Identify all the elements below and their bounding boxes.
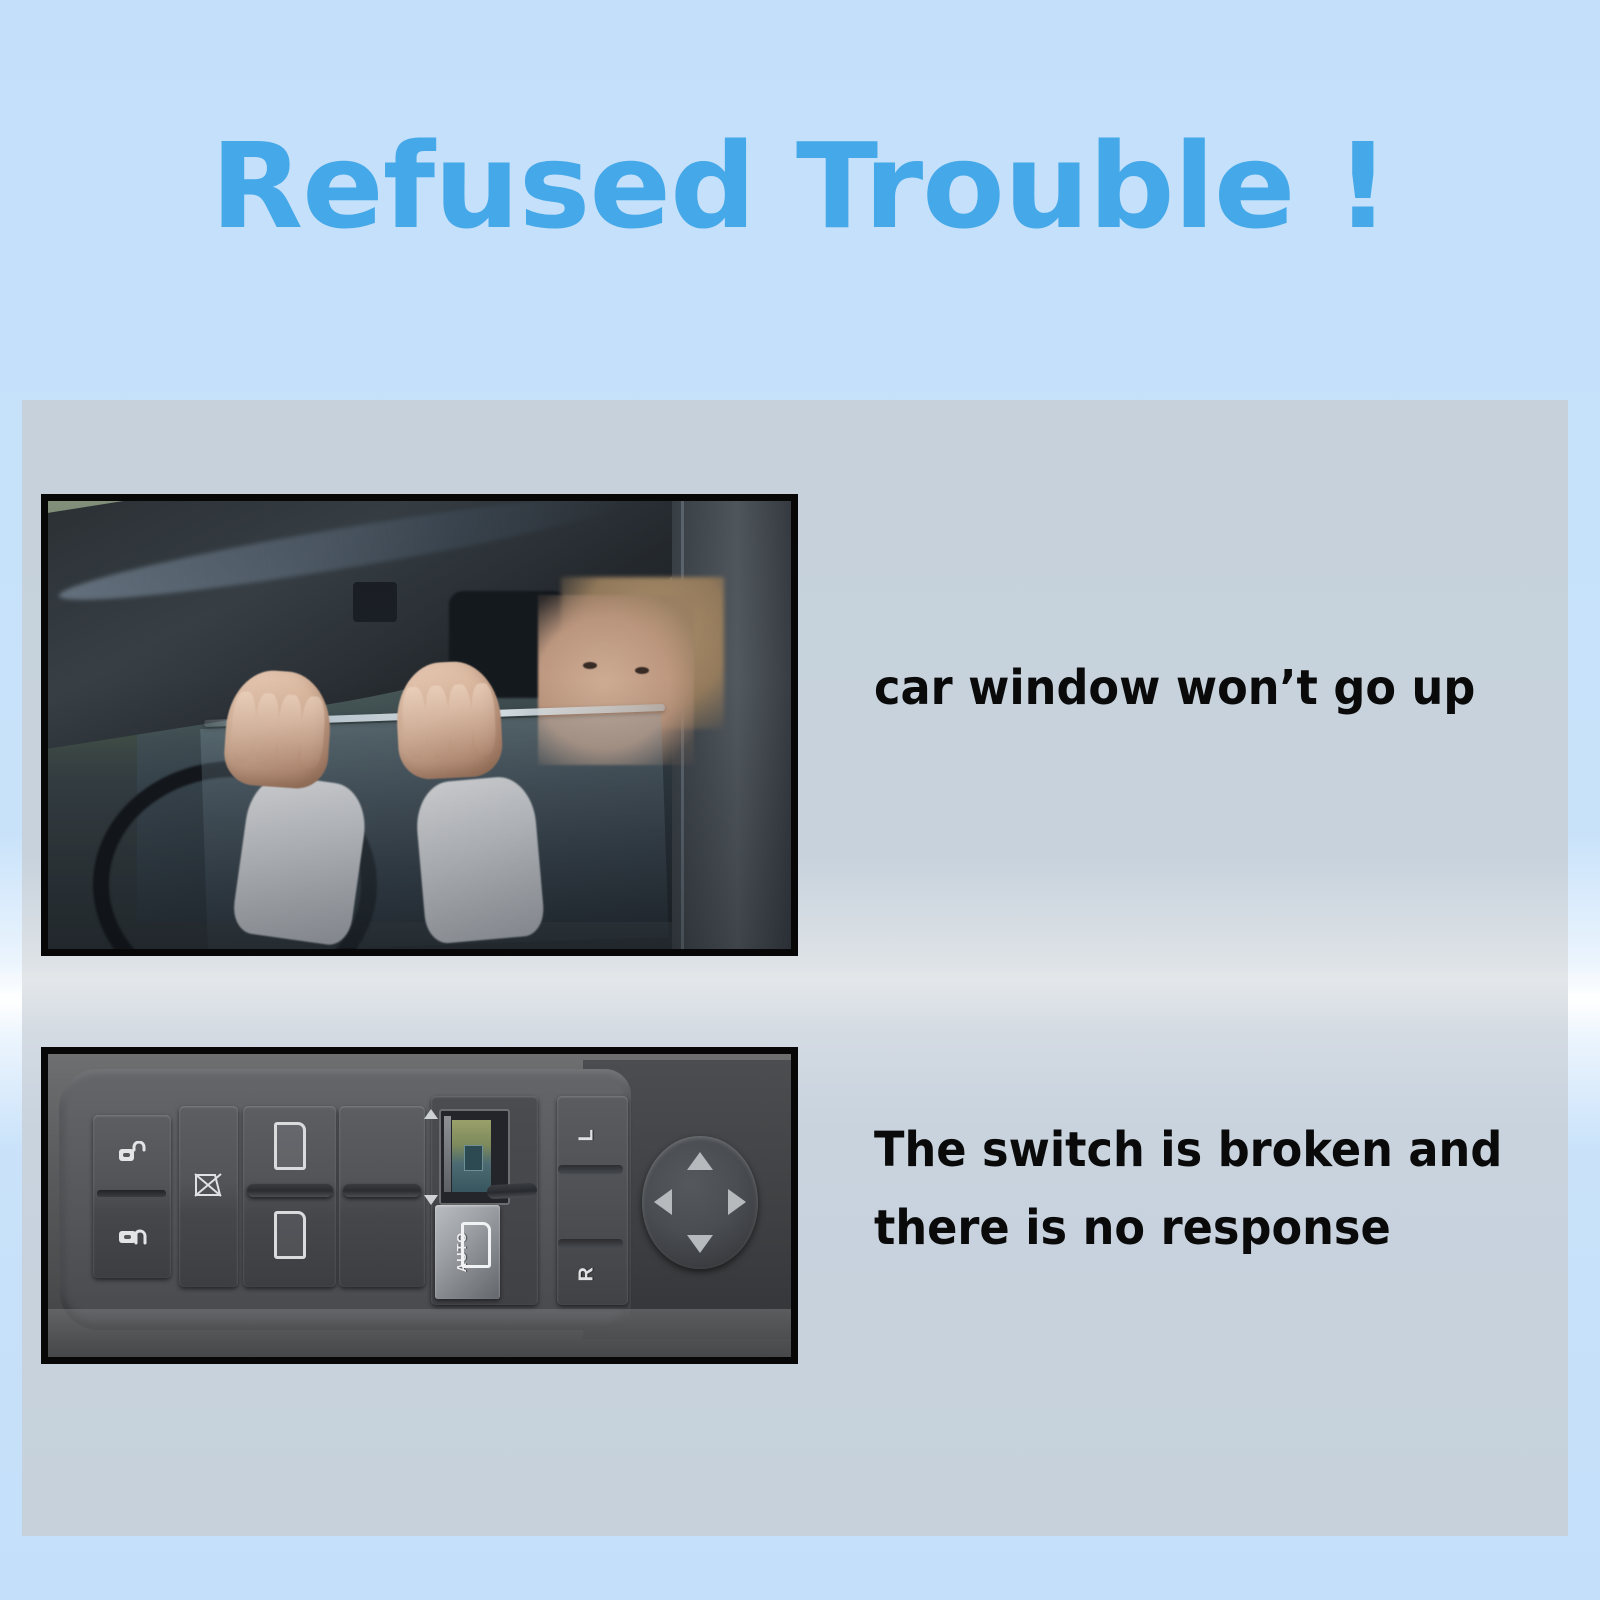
mirror-direction-pad — [642, 1136, 757, 1269]
switch-panel-scene: AUTO L R — [48, 1054, 791, 1357]
mirror-left-label: L — [575, 1129, 598, 1141]
lock-button-split — [97, 1190, 166, 1197]
car-window-photo — [41, 494, 798, 956]
photo-vignette — [48, 501, 791, 949]
window-glyph-icon — [461, 1222, 491, 1268]
mirror-select-buttons: L R — [557, 1096, 628, 1305]
switch-contact-tab — [444, 1116, 451, 1191]
window-switch-photo-inner: AUTO L R — [48, 1054, 791, 1357]
dpad-up-arrow-icon — [687, 1152, 713, 1170]
broken-window-switch: AUTO — [431, 1096, 539, 1305]
dpad-left-arrow-icon — [654, 1189, 672, 1215]
driver-window-auto-button: AUTO — [435, 1205, 500, 1299]
exposed-circuit-board — [452, 1120, 491, 1192]
window-up-arrow-icon — [424, 1109, 438, 1119]
rocker-lip — [343, 1184, 422, 1197]
window-glyph-icon — [274, 1122, 306, 1170]
mirror-right-label: R — [575, 1267, 598, 1281]
window-down-arrow-icon — [424, 1195, 438, 1205]
mirror-select-split-top — [558, 1165, 623, 1174]
caption-broken-switch-line2: there is no response — [874, 1190, 1581, 1268]
circuit-chip — [464, 1145, 483, 1171]
window-switch-photo: AUTO L R — [41, 1047, 798, 1364]
infographic-page: Refused Trouble ! — [0, 0, 1600, 1600]
dpad-down-arrow-icon — [687, 1235, 713, 1253]
page-title: Refused Trouble ! — [211, 125, 1390, 249]
window-glyph-icon — [274, 1211, 306, 1259]
window-lockout-icon — [191, 1171, 225, 1199]
broken-rocker-lip — [486, 1183, 536, 1200]
window-lockout-button — [179, 1106, 238, 1288]
window-switch-rear-left — [243, 1106, 336, 1288]
lock-icon — [117, 1223, 147, 1245]
caption-broken-switch: The switch is broken and there is no res… — [874, 1112, 1581, 1268]
door-lock-buttons — [93, 1115, 171, 1279]
unlock-icon — [117, 1141, 147, 1163]
caption-broken-switch-line1: The switch is broken and — [874, 1112, 1581, 1190]
caption-car-window: car window won’t go up — [874, 662, 1475, 715]
car-window-scene — [48, 501, 791, 949]
dpad-right-arrow-icon — [728, 1189, 746, 1215]
car-window-photo-inner — [48, 501, 791, 949]
page-title-wrap: Refused Trouble ! — [0, 125, 1600, 249]
door-panel-lower — [48, 1309, 791, 1357]
window-switch-rear-right — [339, 1106, 424, 1288]
mirror-select-split-bottom — [558, 1239, 623, 1248]
rocker-lip — [247, 1184, 332, 1197]
